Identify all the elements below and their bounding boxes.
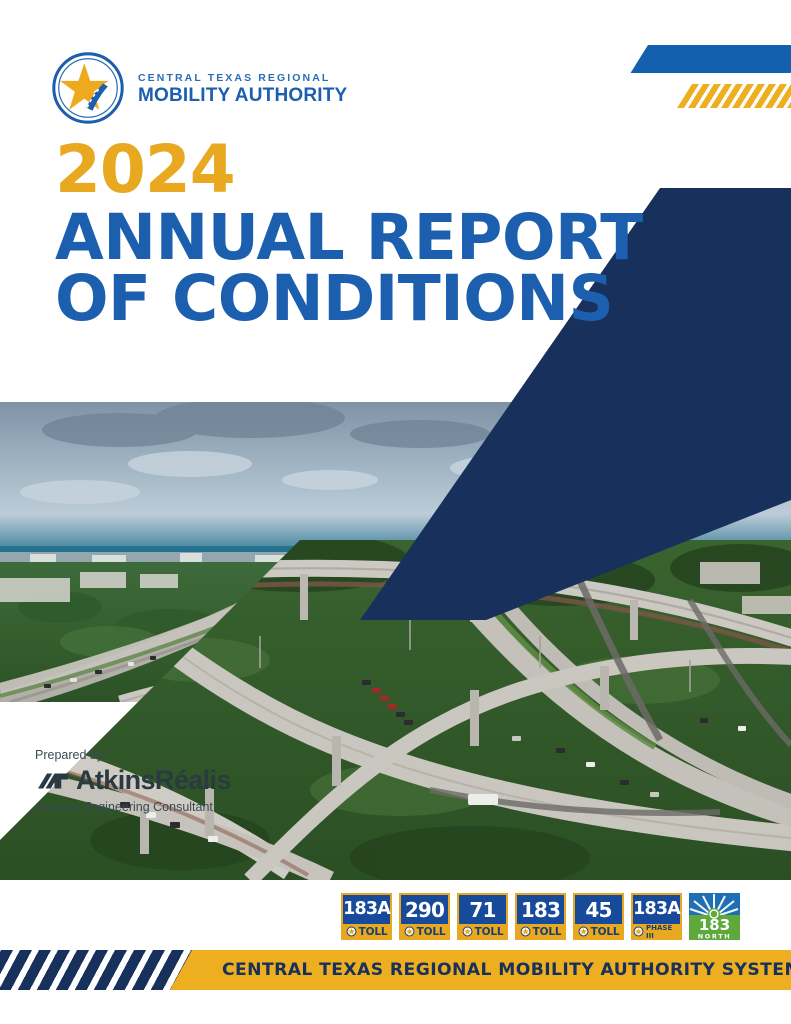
ctrma-logo: CENTRAL TEXAS REGIONAL MOBILITY AUTHORIT…	[50, 50, 347, 126]
badge-number: 45	[575, 895, 622, 924]
top-right-blue-bar	[631, 45, 791, 73]
star-road-circle-icon	[50, 50, 126, 126]
cover-title-block: 2024 ANNUAL REPORT OF CONDITIONS	[55, 140, 643, 330]
toll-star-icon	[462, 926, 473, 937]
badge-sub: PHASE III	[633, 924, 680, 939]
badge-sub: TOLL	[517, 924, 564, 939]
footer-gold-banner: CENTRAL TEXAS REGIONAL MOBILITY AUTHORIT…	[170, 950, 791, 990]
badge-183-toll[interactable]: 183 TOLL	[515, 893, 566, 941]
badge-sub: TOLL	[575, 924, 622, 939]
badge-290-toll[interactable]: 290 TOLL	[399, 893, 450, 941]
badge-number: 183A	[343, 895, 390, 924]
badge-183-north[interactable]: 183 NORTH	[689, 893, 740, 941]
badge-45-toll[interactable]: 45 TOLL	[573, 893, 624, 941]
prepared-by-label: Prepared by:	[35, 748, 231, 762]
report-title: ANNUAL REPORT OF CONDITIONS	[55, 207, 643, 330]
badge-183-north-graphic: 183 NORTH	[689, 893, 740, 941]
badge-sub-label: TOLL	[359, 926, 388, 938]
toll-star-icon	[520, 926, 531, 937]
badge-number: 183A	[633, 895, 680, 924]
toll-star-icon	[633, 926, 644, 937]
badge-sub-label: TOLL	[591, 926, 620, 938]
prepared-by-company: AtkinsRéalis	[76, 765, 231, 796]
aerial-interchange-photo	[0, 540, 791, 880]
logo-line-2: MOBILITY AUTHORITY	[138, 86, 347, 105]
aerial-interchange-photo-graphic	[0, 540, 791, 880]
badge-sub-label: PHASE III	[646, 924, 680, 940]
badge-sub-label: TOLL	[533, 926, 562, 938]
toll-star-icon	[346, 926, 357, 937]
report-title-line-2: OF CONDITIONS	[55, 268, 643, 330]
atkinsrealis-logo-icon	[35, 769, 71, 793]
prepared-by-block: Prepared by: AtkinsRéalis General Engine…	[35, 748, 231, 814]
badge-sub: TOLL	[343, 924, 390, 939]
report-year: 2024	[55, 140, 643, 201]
badge-number: 290	[401, 895, 448, 924]
badge-183a-toll[interactable]: 183A TOLL	[341, 893, 392, 941]
badge-number: 71	[459, 895, 506, 924]
cover-footer: CENTRAL TEXAS REGIONAL MOBILITY AUTHORIT…	[0, 940, 791, 1024]
badge-sub: TOLL	[459, 924, 506, 939]
badge-sub-label: TOLL	[417, 926, 446, 938]
toll-system-badges: 183A TOLL 290 TOLL 7	[341, 893, 740, 941]
badge-number: 183	[517, 895, 564, 924]
badge-sub-label: TOLL	[475, 926, 504, 938]
toll-star-icon	[404, 926, 415, 937]
badge-71-toll[interactable]: 71 TOLL	[457, 893, 508, 941]
report-cover-page: CENTRAL TEXAS REGIONAL MOBILITY AUTHORIT…	[0, 0, 791, 1024]
badge-sub: TOLL	[401, 924, 448, 939]
badge-183a-phase-3[interactable]: 183A PHASE III	[631, 893, 682, 941]
logo-line-1: CENTRAL TEXAS REGIONAL	[138, 73, 347, 84]
footer-banner-text: CENTRAL TEXAS REGIONAL MOBILITY AUTHORIT…	[222, 960, 791, 980]
prepared-by-role: General Engineering Consultant	[35, 800, 231, 814]
north-badge-number: 183	[699, 916, 730, 934]
top-right-gold-stripes	[677, 84, 791, 108]
toll-star-icon	[578, 926, 589, 937]
